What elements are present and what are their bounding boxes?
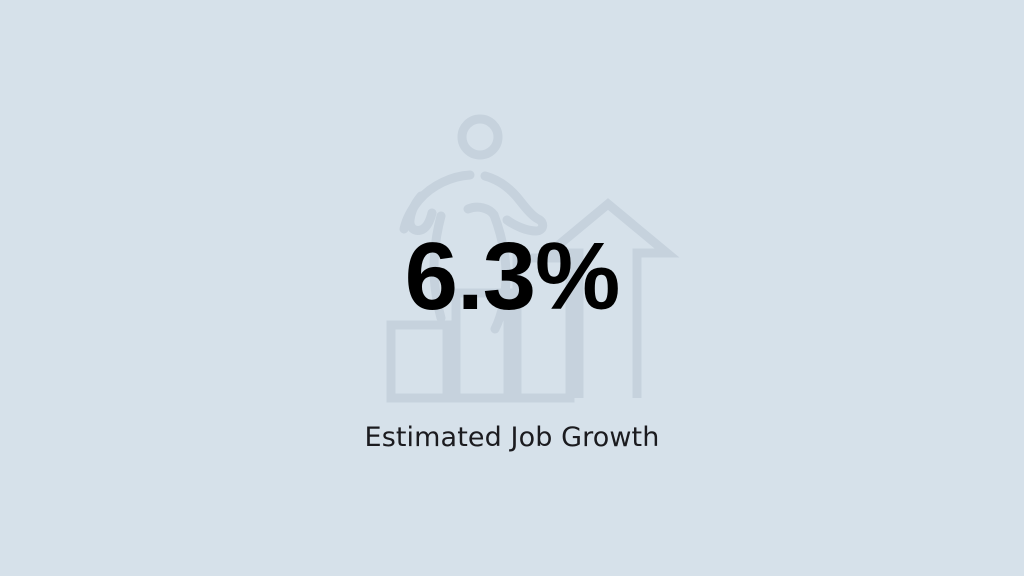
stat-label: Estimated Job Growth — [0, 421, 1024, 455]
stat-value: 6.3% — [0, 229, 1024, 325]
stat-content: 6.3% Estimated Job Growth — [0, 0, 1024, 576]
stat-card: 6.3% Estimated Job Growth — [0, 0, 1024, 576]
